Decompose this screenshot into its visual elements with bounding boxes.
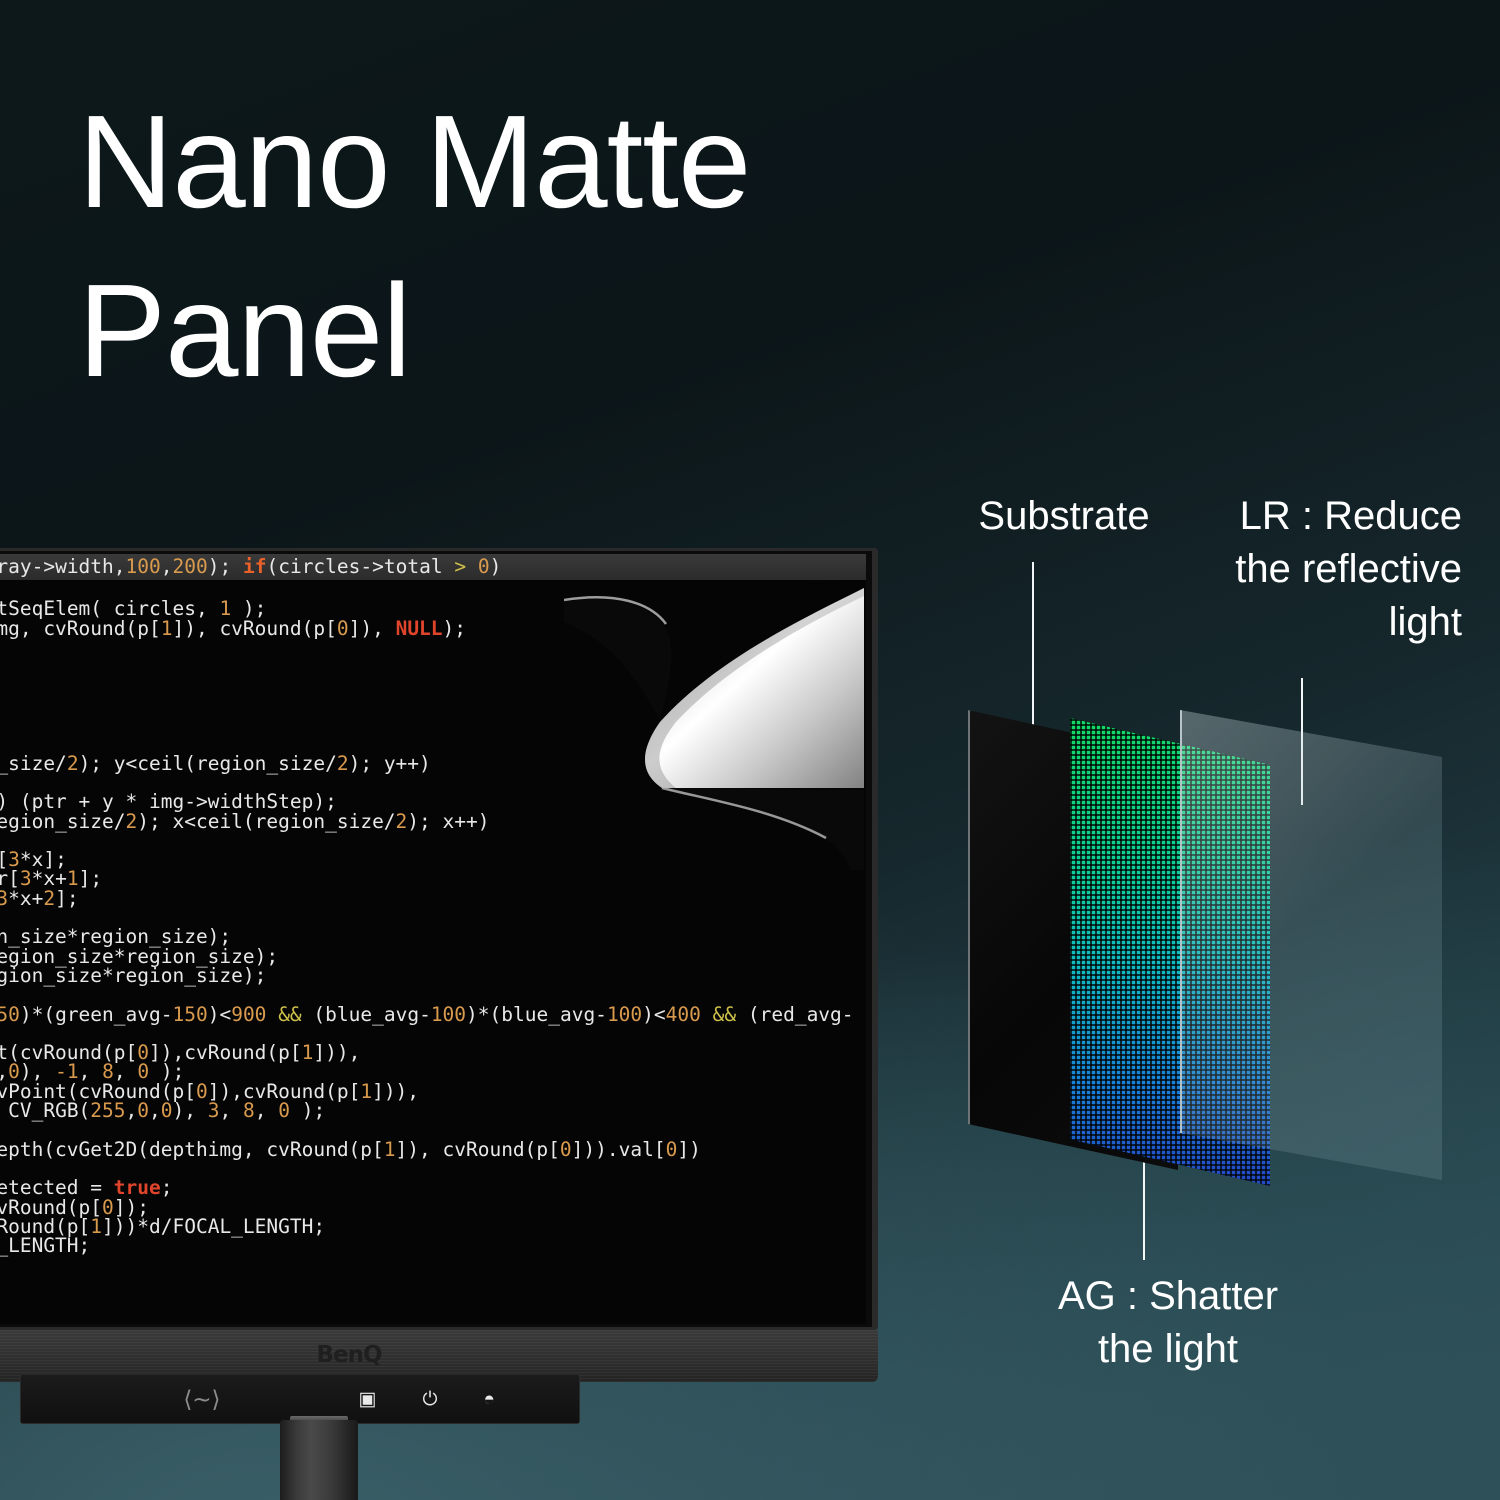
benq-logo: BenQ xyxy=(0,1342,878,1368)
monitor-stand-column xyxy=(280,1420,358,1500)
ag-label: AG : Shatter the light xyxy=(958,1270,1378,1376)
brand-glyph-icon: ⟨∼⟩ xyxy=(183,1388,220,1411)
monitor-illustration: GRADIENT, 2, gray->width,100,200); if(ci… xyxy=(0,548,880,1348)
monitor-screen: GRADIENT, 2, gray->width,100,200); if(ci… xyxy=(0,554,866,1324)
lr-glass-layer xyxy=(1180,710,1442,1180)
eye-care-icon[interactable]: ◓ xyxy=(484,1390,495,1409)
lr-label: LR : Reduce the reflective light xyxy=(1162,490,1462,648)
power-icon[interactable]: ⏻ xyxy=(422,1390,437,1409)
page-title: Nano Matte Panel xyxy=(78,78,1128,416)
hdr-icon[interactable]: ▣ xyxy=(359,1390,377,1409)
panel-layer-diagram: Substrate LR : Reduce the reflective lig… xyxy=(930,460,1460,1290)
product-marketing-image: Nano Matte Panel GRADIENT, 2, gray->widt… xyxy=(0,0,1500,1500)
substrate-label: Substrate xyxy=(930,490,1198,543)
code-editor-content: GRADIENT, 2, gray->width,100,200); if(ci… xyxy=(0,554,866,1255)
monitor-screen-frame: GRADIENT, 2, gray->width,100,200); if(ci… xyxy=(0,548,878,1330)
